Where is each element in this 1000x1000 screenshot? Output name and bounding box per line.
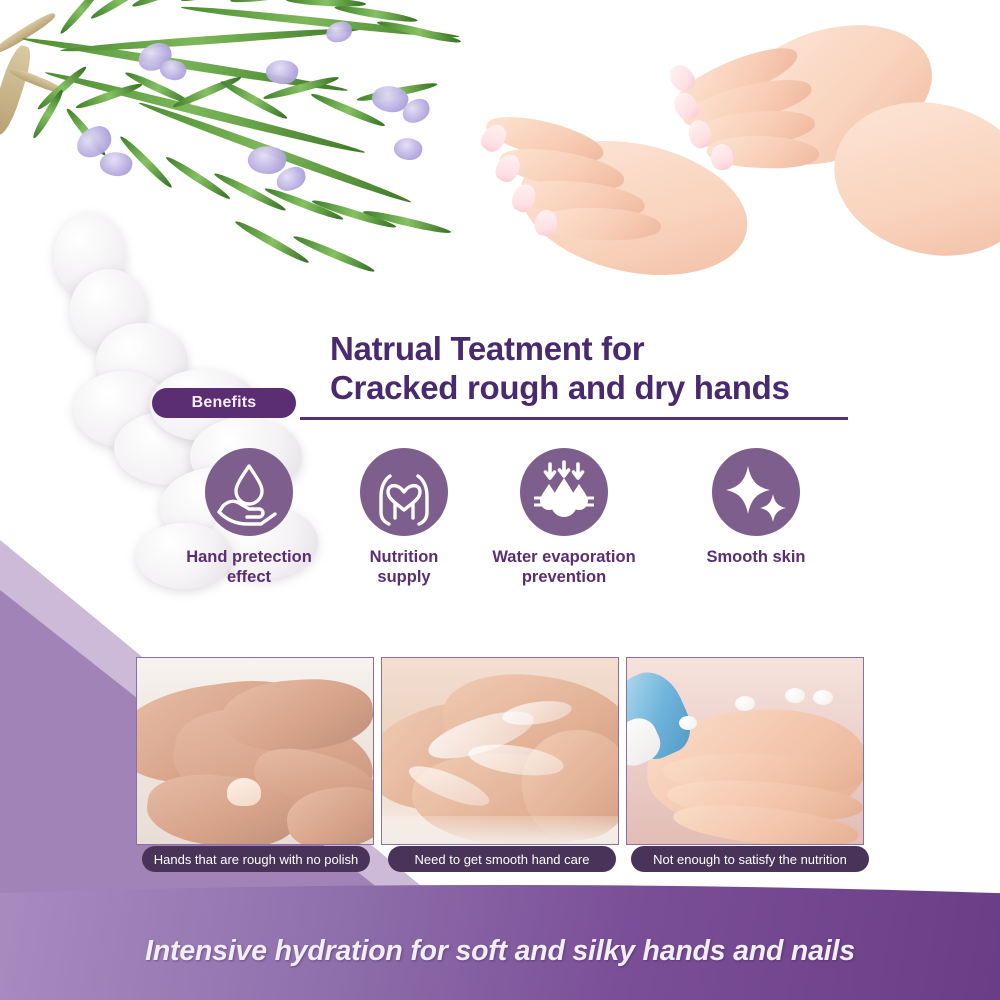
benefits-badge-label: Benefits [192,394,257,412]
headline-line-1: Natrual Teatment for [330,330,644,367]
benefit-label: Water evaporation prevention [472,548,656,588]
page-title: Natrual Teatment for Cracked rough and d… [330,330,890,407]
benefit-label: Nutrition supply [344,548,464,588]
benefits-badge: Benefits [152,388,296,418]
benefit-label: Hand pretection effect [160,548,338,588]
photo-caption: Not enough to satisfy the nutrition [631,846,869,872]
photo-strip [136,657,864,845]
hand-with-droplet-icon [205,448,293,536]
headline-line-2: Cracked rough and dry hands [330,369,890,408]
benefit-item-nutrition-supply: Nutrition supply [344,448,464,588]
photo-caption: Hands that are rough with no polish [142,846,370,872]
hands-holding-heart-icon [360,448,448,536]
headline-divider [300,417,848,420]
tagline-text: Intensive hydration for soft and silky h… [0,935,1000,968]
photo-captions: Hands that are rough with no polish Need… [136,846,864,872]
benefits-list: Hand pretection effect Nutrition supply [160,448,840,638]
cream-application-photo [626,657,864,845]
benefit-item-water-evaporation: Water evaporation prevention [472,448,656,588]
droplets-barrier-icon [520,448,608,536]
sparkle-icon [712,448,800,536]
product-infographic: Natrual Teatment for Cracked rough and d… [0,0,1000,1000]
benefit-item-smooth-skin: Smooth skin [672,448,840,568]
benefit-item-hand-protection: Hand pretection effect [160,448,338,588]
photo-caption: Need to get smooth hand care [388,846,616,872]
lathered-hands-photo [381,657,619,845]
rough-hands-photo [136,657,374,845]
benefit-label: Smooth skin [672,548,840,568]
manicured-hands-image [475,0,1000,294]
